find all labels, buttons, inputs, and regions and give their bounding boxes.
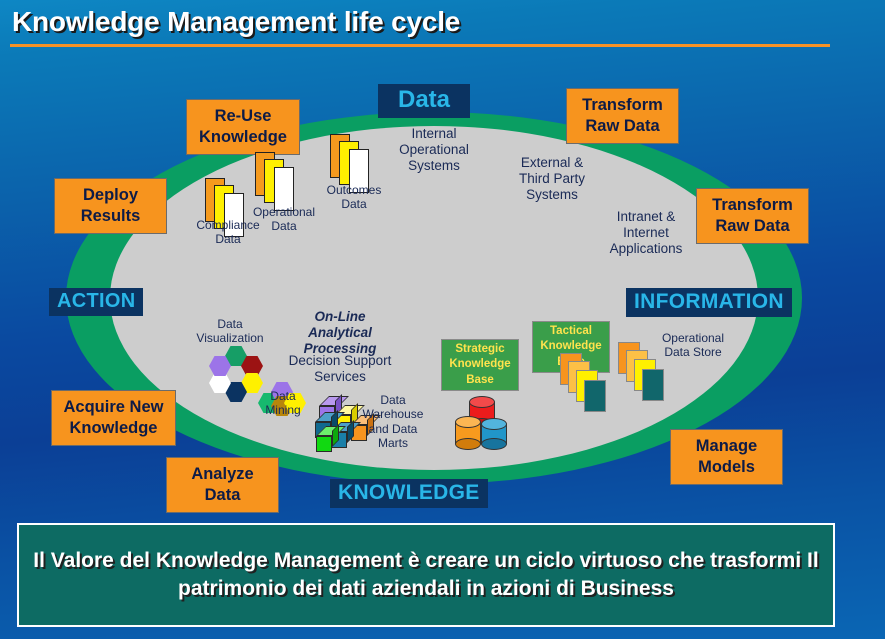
stage-label-data: Data — [378, 84, 470, 118]
label-olap: On-Line Analytical Processing — [292, 309, 388, 358]
stage-label-knowledge: KNOWLEDGE — [330, 479, 488, 508]
kb-label: Strategic Knowledge Base — [449, 342, 510, 389]
action-box-transform-raw-data-top[interactable]: Transform Raw Data — [566, 88, 679, 144]
action-box-reuse-knowledge[interactable]: Re-Use Knowledge — [186, 99, 300, 155]
action-box-transform-raw-data-right[interactable]: Transform Raw Data — [696, 188, 809, 244]
action-box-label: Deploy Results — [81, 185, 141, 227]
action-box-label: Transform Raw Data — [712, 195, 793, 237]
database-cylinder-icon — [455, 396, 517, 450]
action-box-label: Acquire New Knowledge — [64, 397, 164, 439]
title-bar: Knowledge Management life cycle — [0, 0, 885, 56]
action-box-deploy-results[interactable]: Deploy Results — [54, 178, 167, 234]
stage-label-action: ACTION — [49, 288, 143, 316]
hexagon-cluster-icon — [208, 346, 264, 394]
conclusion-box: Il Valore del Knowledge Management è cre… — [17, 523, 835, 627]
action-box-label: Transform Raw Data — [582, 95, 663, 137]
label-external-third-party-systems: External & Third Party Systems — [502, 155, 602, 204]
stage-label-information: INFORMATION — [626, 288, 792, 317]
title-divider — [10, 44, 830, 47]
knowledge-base-strategic[interactable]: Strategic Knowledge Base — [441, 339, 519, 391]
label-outcomes-data: Outcomes Data — [312, 183, 396, 212]
document-stack-icon — [255, 152, 301, 210]
card-stack-icon — [560, 353, 606, 415]
action-box-label: Analyze Data — [191, 464, 253, 506]
action-box-analyze-data[interactable]: Analyze Data — [166, 457, 279, 513]
label-operational-data-store: Operational Data Store — [645, 331, 741, 360]
slide-canvas: Knowledge Management life cycle Data INF… — [0, 0, 885, 639]
label-intranet-internet-applications: Intranet & Internet Applications — [596, 209, 696, 258]
page-title: Knowledge Management life cycle — [12, 6, 460, 38]
label-data-warehouse-marts: Data Warehouse and Data Marts — [358, 393, 428, 451]
label-data-mining: Data Mining — [255, 389, 311, 418]
conclusion-text: Il Valore del Knowledge Management è cre… — [19, 547, 833, 602]
action-box-label: Re-Use Knowledge — [199, 106, 287, 148]
action-box-label: Manage Models — [696, 436, 757, 478]
action-box-manage-models[interactable]: Manage Models — [670, 429, 783, 485]
label-internal-operational-systems: Internal Operational Systems — [384, 126, 484, 175]
action-box-acquire-new-knowledge[interactable]: Acquire New Knowledge — [51, 390, 176, 446]
label-data-visualization: Data Visualization — [186, 317, 274, 346]
